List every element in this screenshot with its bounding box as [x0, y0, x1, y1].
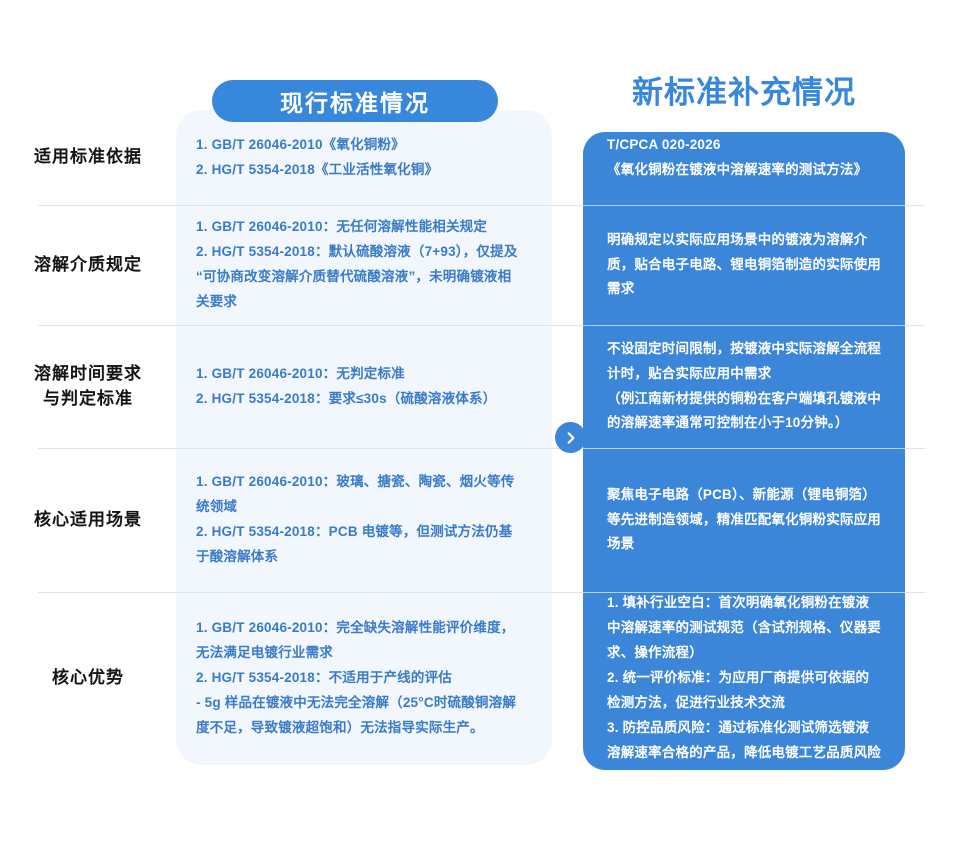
current-standard-cell: 1. GB/T 26046-2010：玻璃、搪瓷、陶瓷、烟火等传统领域 2. H… [176, 448, 552, 592]
current-standard-cell-text: 1. GB/T 26046-2010：无判定标准 2. HG/T 5354-20… [196, 362, 496, 412]
new-standard-cell: T/CPCA 020-2026 《氧化铜粉在镀液中溶解速率的测试方法》 [583, 110, 905, 205]
row-label: 核心优势 [0, 592, 176, 765]
new-standard-cell-text: 不设固定时间限制，按镀液中实际溶解全流程计时，贴合实际应用中需求 （例江南新材提… [607, 337, 881, 437]
chevron-right-badge[interactable] [555, 422, 586, 453]
current-standard-cell: 1. GB/T 26046-2010：无任何溶解性能相关规定 2. HG/T 5… [176, 205, 552, 325]
column-gap [552, 592, 583, 765]
new-standard-cell: 不设固定时间限制，按镀液中实际溶解全流程计时，贴合实际应用中需求 （例江南新材提… [583, 325, 905, 448]
row-label: 核心适用场景 [0, 448, 176, 592]
current-standard-cell: 1. GB/T 26046-2010：无判定标准 2. HG/T 5354-20… [176, 325, 552, 448]
new-standard-cell: 明确规定以实际应用场景中的镀液为溶解介质，贴合电子电路、锂电铜箔制造的实际使用需… [583, 205, 905, 325]
table-row: 溶解时间要求 与判定标准1. GB/T 26046-2010：无判定标准 2. … [0, 325, 960, 448]
current-standard-cell-text: 1. GB/T 26046-2010：玻璃、搪瓷、陶瓷、烟火等传统领域 2. H… [196, 470, 518, 570]
row-label: 适用标准依据 [0, 110, 176, 205]
new-standard-header-title: 新标准补充情况 [583, 66, 905, 112]
row-tail-space [905, 325, 960, 448]
current-standard-cell-text: 1. GB/T 26046-2010：完全缺失溶解性能评价维度，无法满足电镀行业… [196, 616, 518, 741]
new-standard-cell-text: 1. 填补行业空白：首次明确氧化铜粉在镀液中溶解速率的测试规范（含试剂规格、仪器… [607, 591, 881, 766]
new-standard-cell-text: 聚焦电子电路（PCB）、新能源（锂电铜箔）等先进制造领域，精准匹配氧化铜粉实际应… [607, 483, 881, 558]
row-tail-space [905, 592, 960, 765]
row-label: 溶解时间要求 与判定标准 [0, 325, 176, 448]
column-gap [552, 110, 583, 205]
column-gap [552, 205, 583, 325]
table-row: 核心优势1. GB/T 26046-2010：完全缺失溶解性能评价维度，无法满足… [0, 592, 960, 765]
row-tail-space [905, 110, 960, 205]
table-row: 核心适用场景1. GB/T 26046-2010：玻璃、搪瓷、陶瓷、烟火等传统领… [0, 448, 960, 592]
new-standard-cell-text: 明确规定以实际应用场景中的镀液为溶解介质，贴合电子电路、锂电铜箔制造的实际使用需… [607, 228, 881, 303]
chevron-right-icon [563, 430, 579, 446]
current-standard-cell-text: 1. GB/T 26046-2010：无任何溶解性能相关规定 2. HG/T 5… [196, 215, 518, 315]
new-standard-cell: 1. 填补行业空白：首次明确氧化铜粉在镀液中溶解速率的测试规范（含试剂规格、仪器… [583, 592, 905, 765]
new-standard-cell: 聚焦电子电路（PCB）、新能源（锂电铜箔）等先进制造领域，精准匹配氧化铜粉实际应… [583, 448, 905, 592]
table-row: 适用标准依据1. GB/T 26046-2010《氧化铜粉》 2. HG/T 5… [0, 110, 960, 205]
current-standard-cell: 1. GB/T 26046-2010：完全缺失溶解性能评价维度，无法满足电镀行业… [176, 592, 552, 765]
infographic-comparison-table: 现行标准情况 新标准补充情况 适用标准依据1. GB/T 26046-2010《… [0, 0, 960, 855]
row-tail-space [905, 448, 960, 592]
current-standard-cell: 1. GB/T 26046-2010《氧化铜粉》 2. HG/T 5354-20… [176, 110, 552, 205]
row-label: 溶解介质规定 [0, 205, 176, 325]
comparison-rows: 适用标准依据1. GB/T 26046-2010《氧化铜粉》 2. HG/T 5… [0, 110, 960, 765]
table-row: 溶解介质规定1. GB/T 26046-2010：无任何溶解性能相关规定 2. … [0, 205, 960, 325]
column-gap [552, 448, 583, 592]
current-standard-cell-text: 1. GB/T 26046-2010《氧化铜粉》 2. HG/T 5354-20… [196, 133, 438, 183]
row-tail-space [905, 205, 960, 325]
new-standard-cell-text: T/CPCA 020-2026 《氧化铜粉在镀液中溶解速率的测试方法》 [607, 133, 867, 183]
